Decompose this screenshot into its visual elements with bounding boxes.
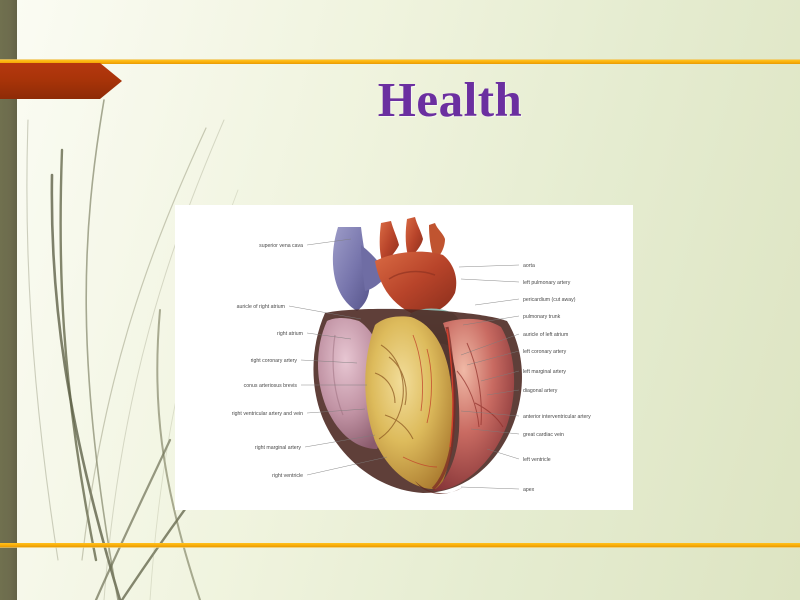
label-diagonal-artery: diagonal artery xyxy=(523,388,558,394)
top-gold-rule xyxy=(0,59,800,64)
bottom-gold-rule-thin xyxy=(0,547,800,548)
label-left-coronary-artery: left coronary artery xyxy=(523,349,567,355)
label-left-ventricle: left ventricle xyxy=(523,457,551,463)
label-great-cardiac-vein: great cardiac vein xyxy=(523,432,564,438)
label-superior-vena-cava: superior vena cava xyxy=(259,243,303,249)
heart-diagram-svg: superior vena cava auricle of right atri… xyxy=(175,205,633,510)
label-left-marginal-artery: left marginal artery xyxy=(523,369,566,375)
label-auricle-of-left-atrium: auricle of left atrium xyxy=(523,332,568,338)
bottom-gold-rule xyxy=(0,543,800,548)
top-gold-rule-thick xyxy=(0,60,800,64)
label-left-pulmonary-artery: left pulmonary artery xyxy=(523,280,571,286)
label-pulmonary-trunk: pulmonary trunk xyxy=(523,314,561,320)
label-right-coronary-artery: right coronary artery xyxy=(251,358,298,364)
label-right-marginal-artery: right marginal artery xyxy=(255,445,302,451)
label-conus-arteriosus-brevis: conus arteriosus brevis xyxy=(244,383,298,389)
label-anterior-interventricular-artery: anterior interventricular artery xyxy=(523,414,591,420)
label-right-atrium: right atrium xyxy=(277,331,303,337)
label-aorta: aorta xyxy=(523,263,535,269)
label-apex: apex xyxy=(523,487,535,493)
heart-illustration xyxy=(313,217,522,494)
page-title: Health xyxy=(140,72,760,128)
heart-diagram-panel: superior vena cava auricle of right atri… xyxy=(175,205,633,510)
label-pericardium-cut-away: pericardium (cut away) xyxy=(523,297,576,303)
label-right-ventricular-artery-and-vein: right ventricular artery and vein xyxy=(232,411,303,417)
label-right-ventricle: right ventricle xyxy=(272,473,303,479)
label-auricle-of-right-atrium: auricle of right atrium xyxy=(237,304,285,310)
top-gold-rule-thin xyxy=(0,59,800,60)
red-chevron-banner xyxy=(0,63,122,99)
slide-canvas: Health xyxy=(0,0,800,600)
